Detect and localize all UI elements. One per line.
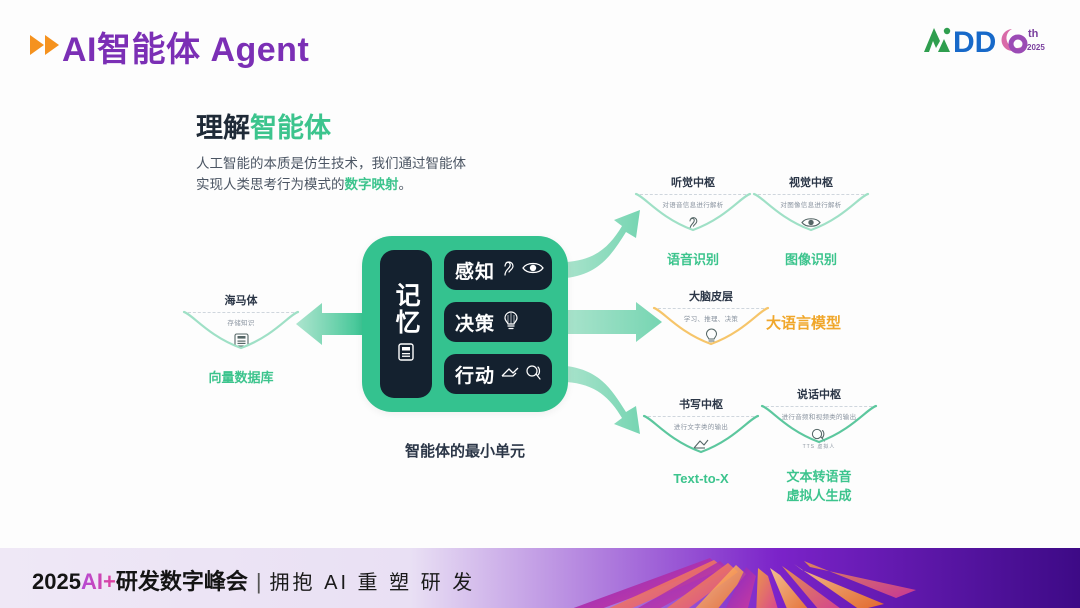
llm-side-label: 大语言模型 xyxy=(766,312,841,333)
node-label: 图像识别 xyxy=(748,249,874,268)
footer-name: 研发数字峰会 xyxy=(116,564,248,596)
intro-body-end: 。 xyxy=(399,177,413,192)
intro-block: 理解智能体 人工智能的本质是仿生技术，我们通过智能体 实现人类思考行为模式的数字… xyxy=(196,112,526,196)
intro-body-line2: 实现人类思考行为模式的 xyxy=(196,177,345,192)
intro-heading-accent: 智能体 xyxy=(250,113,331,143)
node-writing-center: 书写中枢 进行文字类的输出 Text-to-X xyxy=(638,396,764,486)
speech-icon xyxy=(756,423,882,445)
gesture-icon xyxy=(525,363,543,386)
slide-footer: 2025AI+研发数字峰会|拥抱 AI 重 塑 研 发 xyxy=(0,548,1080,608)
node-subtitle: 存储知识 xyxy=(178,317,304,327)
page-title: AI智能体 Agent xyxy=(62,22,309,71)
node-title: 视觉中枢 xyxy=(748,174,874,190)
node-speech-center: 说话中枢 进行音频和视频类的输出 TTS 虚拟人 文本转语音 虚拟人生成 xyxy=(756,386,882,504)
footer-divider: | xyxy=(256,569,262,595)
write-cloud-icon xyxy=(638,433,764,455)
svg-text:DD: DD xyxy=(953,26,996,59)
slide-header: AI智能体 Agent DD th 2025 xyxy=(0,0,1080,86)
svg-text:th: th xyxy=(1028,28,1039,40)
ear-icon xyxy=(500,258,517,282)
lightbulb-icon xyxy=(648,325,774,347)
node-label-secondary: 虚拟人生成 xyxy=(756,485,882,504)
core-pill-perception: 感知 xyxy=(444,250,552,290)
svg-text:2025: 2025 xyxy=(1027,43,1045,52)
core-memory-panel: 记忆 xyxy=(380,250,432,398)
core-pill-label: 行动 xyxy=(455,361,495,388)
footer-slogan: 拥抱 AI 重 塑 研 发 xyxy=(270,566,476,595)
footer-year: 2025 xyxy=(32,569,81,595)
node-divider xyxy=(758,194,864,196)
core-caption: 智能体的最小单元 xyxy=(362,440,568,461)
footer-ai-plus: AI+ xyxy=(81,569,116,595)
eye-icon xyxy=(748,211,874,233)
hand-icon xyxy=(500,364,520,385)
node-divider xyxy=(648,416,754,418)
node-divider xyxy=(188,312,294,314)
intro-heading: 理解智能体 xyxy=(196,112,526,144)
node-cerebral-cortex: 大脑皮层 学习、推理、决策 xyxy=(648,288,774,363)
node-subtitle: 进行音频和视频类的输出 xyxy=(756,411,882,421)
core-pill-action: 行动 xyxy=(444,354,552,394)
node-subtitle: 对语音信息进行解析 xyxy=(630,199,756,209)
database-icon xyxy=(178,329,304,351)
aidd-logo: DD th 2025 xyxy=(920,20,1062,60)
node-subtitle: 进行文字类的输出 xyxy=(638,421,764,431)
node-title: 海马体 xyxy=(178,292,304,308)
node-subtitle: 对图像信息进行解析 xyxy=(748,199,874,209)
ear-icon xyxy=(630,211,756,233)
decorative-fan-graphic xyxy=(520,548,1080,608)
eye-icon xyxy=(522,260,544,281)
node-label: 向量数据库 xyxy=(178,367,304,386)
node-title: 说话中枢 xyxy=(756,386,882,402)
node-micro-labels: TTS 虚拟人 xyxy=(756,443,882,450)
node-hippocampus: 海马体 存储知识 向量数据库 xyxy=(178,292,304,386)
node-subtitle: 学习、推理、决策 xyxy=(648,313,774,323)
core-memory-label: 记忆 xyxy=(393,282,419,336)
intro-heading-plain: 理解 xyxy=(196,113,250,143)
node-divider xyxy=(640,194,746,196)
slide-root: AI智能体 Agent DD th 2025 理解智能体 人工智能的本质是仿生技… xyxy=(0,0,1080,608)
sd-card-icon xyxy=(397,342,415,367)
lightbulb-icon xyxy=(500,309,522,336)
node-title: 听觉中枢 xyxy=(630,174,756,190)
agent-core-box: 记忆 感知 决策 xyxy=(362,236,568,412)
intro-body-accent: 数字映射 xyxy=(345,177,399,192)
core-pill-decision: 决策 xyxy=(444,302,552,342)
intro-body-line1: 人工智能的本质是仿生技术，我们通过智能体 xyxy=(196,156,466,171)
node-visual-cortex: 视觉中枢 对图像信息进行解析 图像识别 xyxy=(748,174,874,268)
node-divider xyxy=(658,308,764,310)
node-title: 大脑皮层 xyxy=(648,288,774,304)
core-pill-label: 感知 xyxy=(455,257,495,284)
node-divider xyxy=(766,406,872,408)
footer-title: 2025AI+研发数字峰会|拥抱 AI 重 塑 研 发 xyxy=(32,564,475,596)
intro-body: 人工智能的本质是仿生技术，我们通过智能体 实现人类思考行为模式的数字映射。 xyxy=(196,154,526,196)
node-label: 语音识别 xyxy=(630,249,756,268)
node-label: 文本转语音 xyxy=(756,466,882,485)
core-pill-label: 决策 xyxy=(455,309,495,336)
node-label: Text-to-X xyxy=(638,471,764,486)
node-auditory-cortex: 听觉中枢 对语音信息进行解析 语音识别 xyxy=(630,174,756,268)
node-title: 书写中枢 xyxy=(638,396,764,412)
